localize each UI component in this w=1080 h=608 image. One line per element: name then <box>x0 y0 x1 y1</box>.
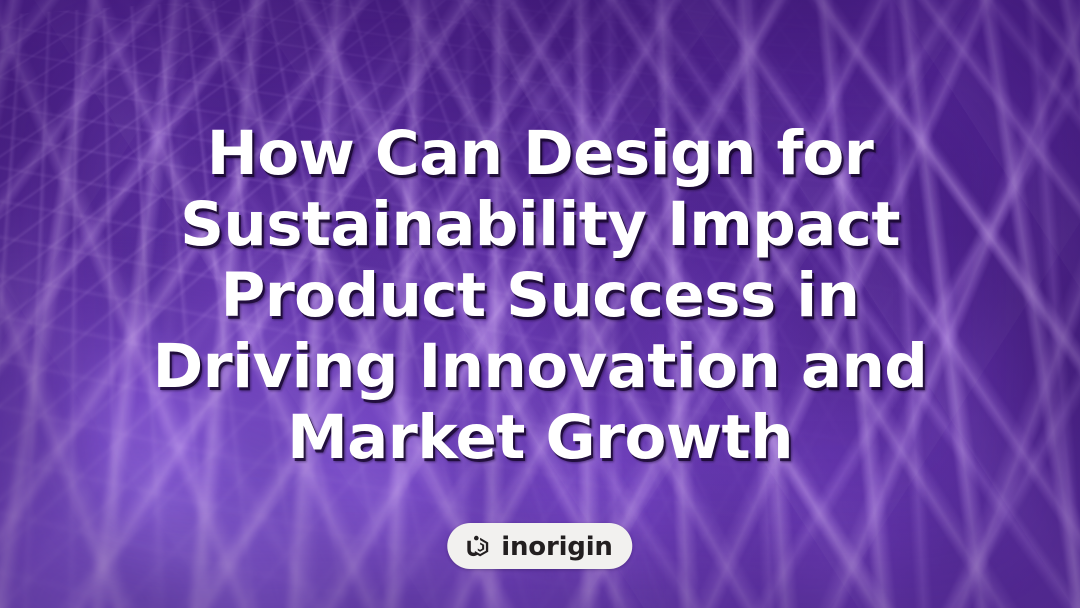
inorigin-wordmark: inorigin <box>501 534 612 560</box>
banner-content: How Can Design for Sustainability Impact… <box>0 0 1080 608</box>
banner-headline: How Can Design for Sustainability Impact… <box>135 118 945 473</box>
promo-banner: How Can Design for Sustainability Impact… <box>0 0 1080 608</box>
inorigin-cube-icon <box>463 532 492 561</box>
inorigin-logo-badge[interactable]: inorigin <box>447 523 632 569</box>
